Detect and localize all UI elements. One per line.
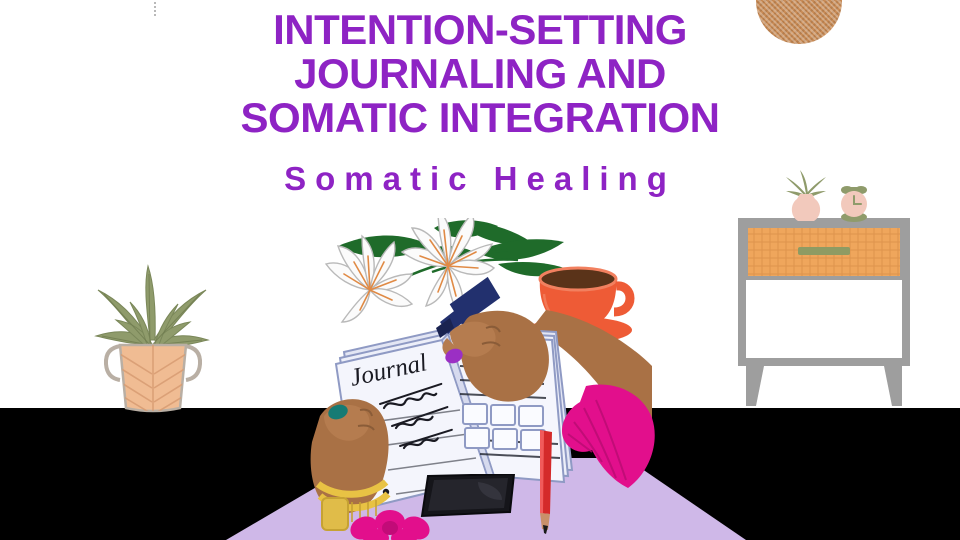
potted-plant xyxy=(78,244,228,414)
smartphone[interactable] xyxy=(418,474,520,518)
magenta-sleeve xyxy=(556,382,662,494)
gold-watch xyxy=(322,498,348,530)
nightstand xyxy=(728,218,920,410)
pink-flower xyxy=(348,500,432,540)
pin-mark-icon xyxy=(154,2,156,16)
slide-canvas: Journal xyxy=(0,0,960,540)
page-subtitle: Somatic Healing xyxy=(0,160,960,198)
